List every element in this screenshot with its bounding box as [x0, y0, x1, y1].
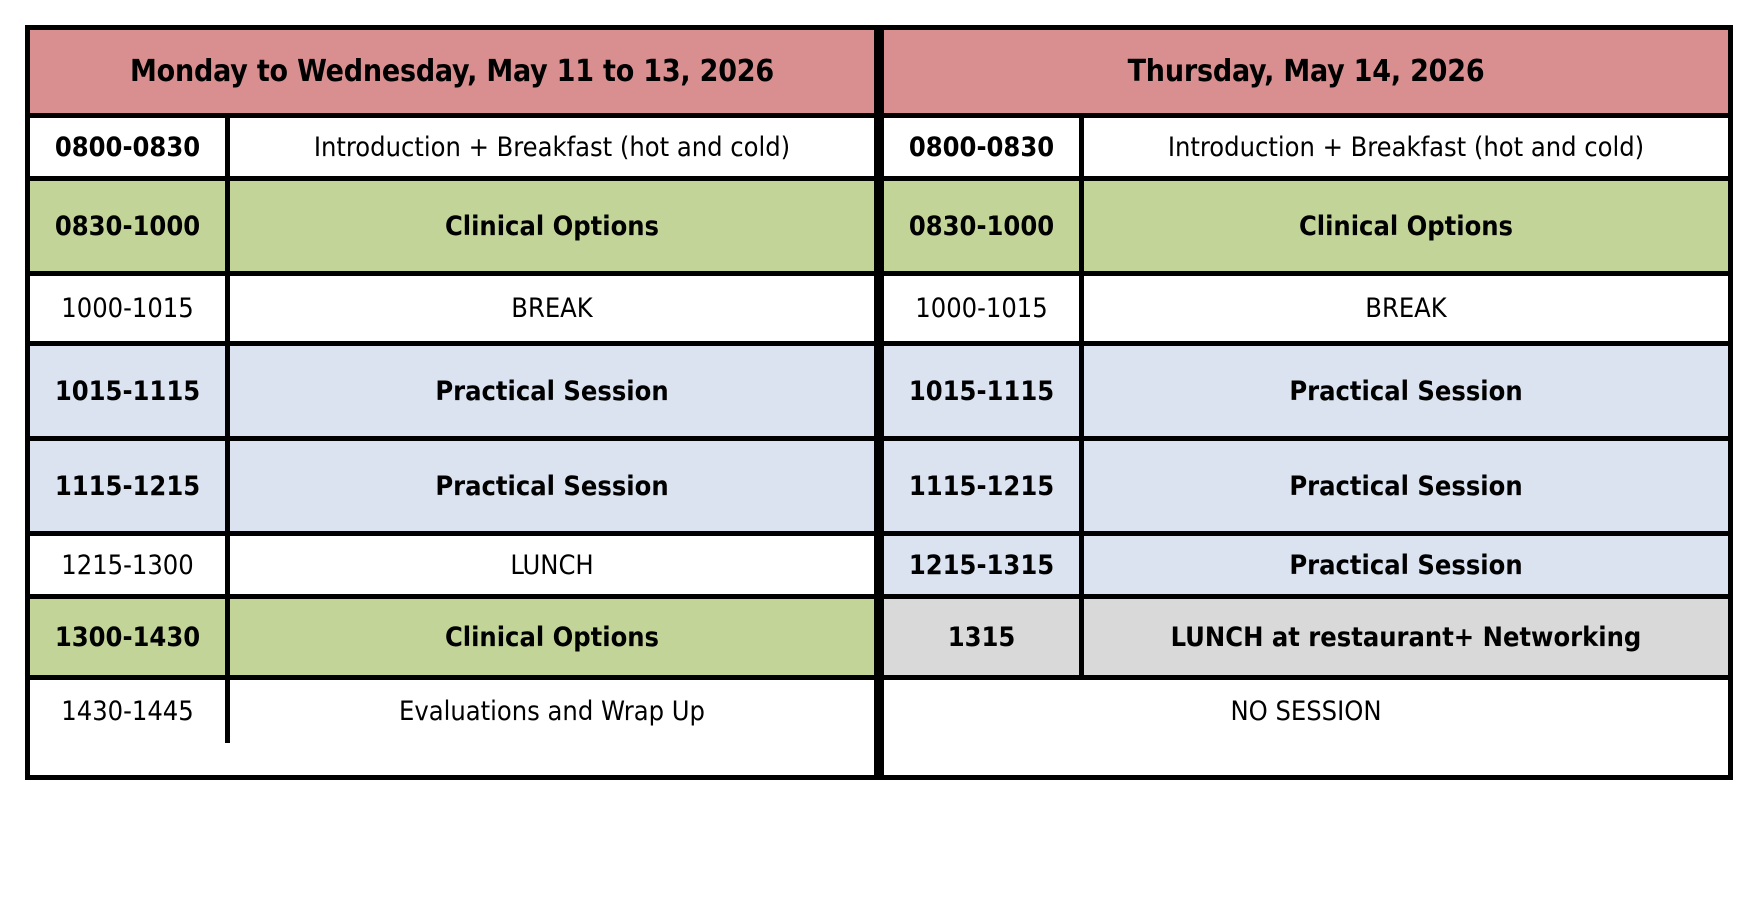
- row-activity: BREAK: [1084, 276, 1728, 341]
- schedule-rows-mon-wed: 0800-0830 Introduction + Breakfast (hot …: [30, 118, 874, 775]
- row-activity: Clinical Options: [1084, 181, 1728, 271]
- table-row: 1215-1315 Practical Session: [884, 536, 1728, 599]
- schedule-table: Monday to Wednesday, May 11 to 13, 2026 …: [25, 25, 1733, 780]
- row-time: 1015-1115: [30, 346, 230, 436]
- day-column-thursday: Thursday, May 14, 2026 0800-0830 Introdu…: [879, 25, 1733, 780]
- row-time: 1315: [884, 599, 1084, 675]
- day-header-mon-wed: Monday to Wednesday, May 11 to 13, 2026: [30, 30, 874, 118]
- row-time: 0830-1000: [30, 181, 230, 271]
- day-header-thursday: Thursday, May 14, 2026: [884, 30, 1728, 118]
- table-row: 0800-0830 Introduction + Breakfast (hot …: [30, 118, 874, 181]
- table-row: 0830-1000 Clinical Options: [884, 181, 1728, 276]
- schedule-rows-thursday: 0800-0830 Introduction + Breakfast (hot …: [884, 118, 1728, 775]
- row-time: 1430-1445: [30, 680, 230, 743]
- row-time: 0830-1000: [884, 181, 1084, 271]
- table-row: 1315 LUNCH at restaurant+ Networking: [884, 599, 1728, 680]
- day-column-mon-wed: Monday to Wednesday, May 11 to 13, 2026 …: [25, 25, 879, 780]
- row-time: 0800-0830: [30, 118, 230, 176]
- row-time: 1015-1115: [884, 346, 1084, 436]
- table-row: 1430-1445 Evaluations and Wrap Up: [30, 680, 874, 743]
- row-activity: LUNCH at restaurant+ Networking: [1084, 599, 1728, 675]
- row-activity: LUNCH: [230, 536, 874, 594]
- row-activity: Clinical Options: [230, 181, 874, 271]
- row-activity: Practical Session: [1084, 346, 1728, 436]
- row-activity: Practical Session: [230, 441, 874, 531]
- table-row: 0800-0830 Introduction + Breakfast (hot …: [884, 118, 1728, 181]
- row-time: 1000-1015: [884, 276, 1084, 341]
- row-time: 0800-0830: [884, 118, 1084, 176]
- row-activity: Practical Session: [230, 346, 874, 436]
- row-activity: Practical Session: [1084, 441, 1728, 531]
- table-row: 1000-1015 BREAK: [884, 276, 1728, 346]
- row-activity: BREAK: [230, 276, 874, 341]
- row-activity: Clinical Options: [230, 599, 874, 675]
- row-time: 1115-1215: [884, 441, 1084, 531]
- row-time: 1215-1300: [30, 536, 230, 594]
- table-row: 1300-1430 Clinical Options: [30, 599, 874, 680]
- table-row: 1215-1300 LUNCH: [30, 536, 874, 599]
- row-time: 1215-1315: [884, 536, 1084, 594]
- row-activity: Evaluations and Wrap Up: [230, 680, 874, 743]
- row-time: 1115-1215: [30, 441, 230, 531]
- table-row: 1115-1215 Practical Session: [30, 441, 874, 536]
- row-activity: Introduction + Breakfast (hot and cold): [1084, 118, 1728, 176]
- table-row: 1000-1015 BREAK: [30, 276, 874, 346]
- table-row: 1015-1115 Practical Session: [30, 346, 874, 441]
- table-row: 0830-1000 Clinical Options: [30, 181, 874, 276]
- row-activity: Introduction + Breakfast (hot and cold): [230, 118, 874, 176]
- row-activity: Practical Session: [1084, 536, 1728, 594]
- row-time: 1000-1015: [30, 276, 230, 341]
- table-row: 1115-1215 Practical Session: [884, 441, 1728, 536]
- table-row: 1015-1115 Practical Session: [884, 346, 1728, 441]
- table-row-spanning: NO SESSION: [884, 680, 1728, 743]
- row-activity: NO SESSION: [884, 680, 1728, 743]
- row-time: 1300-1430: [30, 599, 230, 675]
